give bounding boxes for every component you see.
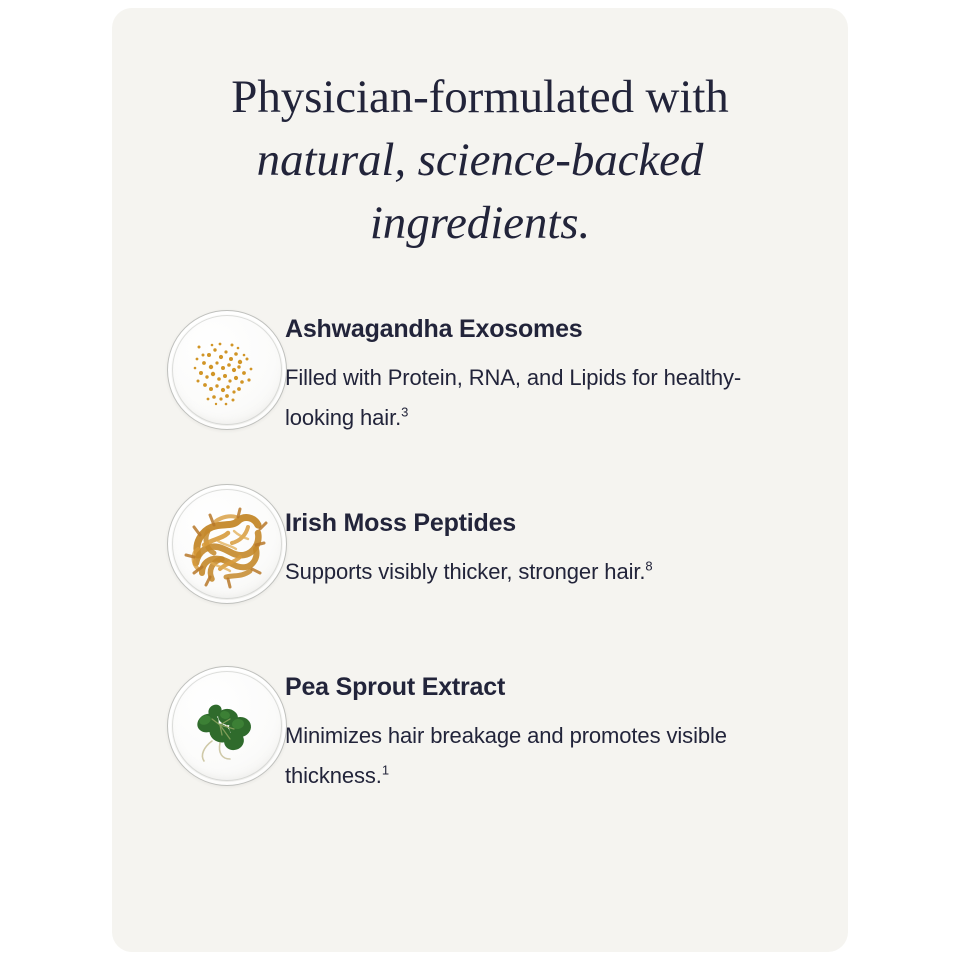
ingredient-description-text: Filled with Protein, RNA, and Lipids for… — [285, 365, 741, 430]
specimen-pea-sprout — [168, 667, 286, 785]
ingredient-description: Minimizes hair breakage and promotes vis… — [285, 716, 765, 796]
list-item: Ashwagandha Exosomes Filled with Protein… — [112, 280, 848, 466]
ingredient-description: Filled with Protein, RNA, and Lipids for… — [285, 358, 765, 438]
ingredient-copy-3: Pea Sprout Extract Minimizes hair breaka… — [285, 634, 848, 796]
headline-line-roman: Physician-formulated with — [112, 66, 848, 129]
petri-dish-pea-sprout-icon — [167, 666, 287, 786]
footnote-marker: 3 — [401, 405, 408, 420]
ingredient-title: Irish Moss Peptides — [285, 508, 816, 538]
petri-dish-ashwagandha-exosomes-icon — [167, 310, 287, 430]
footnote-marker: 8 — [645, 559, 652, 574]
ingredient-description-text: Minimizes hair breakage and promotes vis… — [285, 723, 727, 788]
footnote-marker: 1 — [382, 763, 389, 778]
ingredient-image-3 — [112, 634, 285, 818]
specimen-sea-moss — [168, 485, 286, 603]
list-item: Pea Sprout Extract Minimizes hair breaka… — [112, 634, 848, 824]
ingredient-title: Pea Sprout Extract — [285, 672, 816, 702]
specimen-granules — [168, 311, 286, 429]
ingredient-image-2 — [112, 466, 285, 650]
ingredients-card: Physician-formulated with natural, scien… — [112, 8, 848, 952]
ingredient-image-1 — [112, 280, 285, 464]
headline-line-italic-2: ingredients. — [112, 192, 848, 255]
ingredients-panel: Physician-formulated with natural, scien… — [0, 0, 960, 960]
ingredient-description: Supports visibly thicker, stronger hair.… — [285, 552, 765, 592]
ingredient-copy-2: Irish Moss Peptides Supports visibly thi… — [285, 466, 848, 592]
ingredient-title: Ashwagandha Exosomes — [285, 314, 816, 344]
list-item: Irish Moss Peptides Supports visibly thi… — [112, 466, 848, 634]
ingredient-copy-1: Ashwagandha Exosomes Filled with Protein… — [285, 280, 848, 438]
headline-line-italic-1: natural, science-backed — [112, 129, 848, 192]
ingredient-description-text: Supports visibly thicker, stronger hair. — [285, 559, 645, 584]
ingredient-list: Ashwagandha Exosomes Filled with Protein… — [112, 280, 848, 824]
petri-dish-irish-moss-icon — [167, 484, 287, 604]
page-title: Physician-formulated with natural, scien… — [112, 66, 848, 255]
